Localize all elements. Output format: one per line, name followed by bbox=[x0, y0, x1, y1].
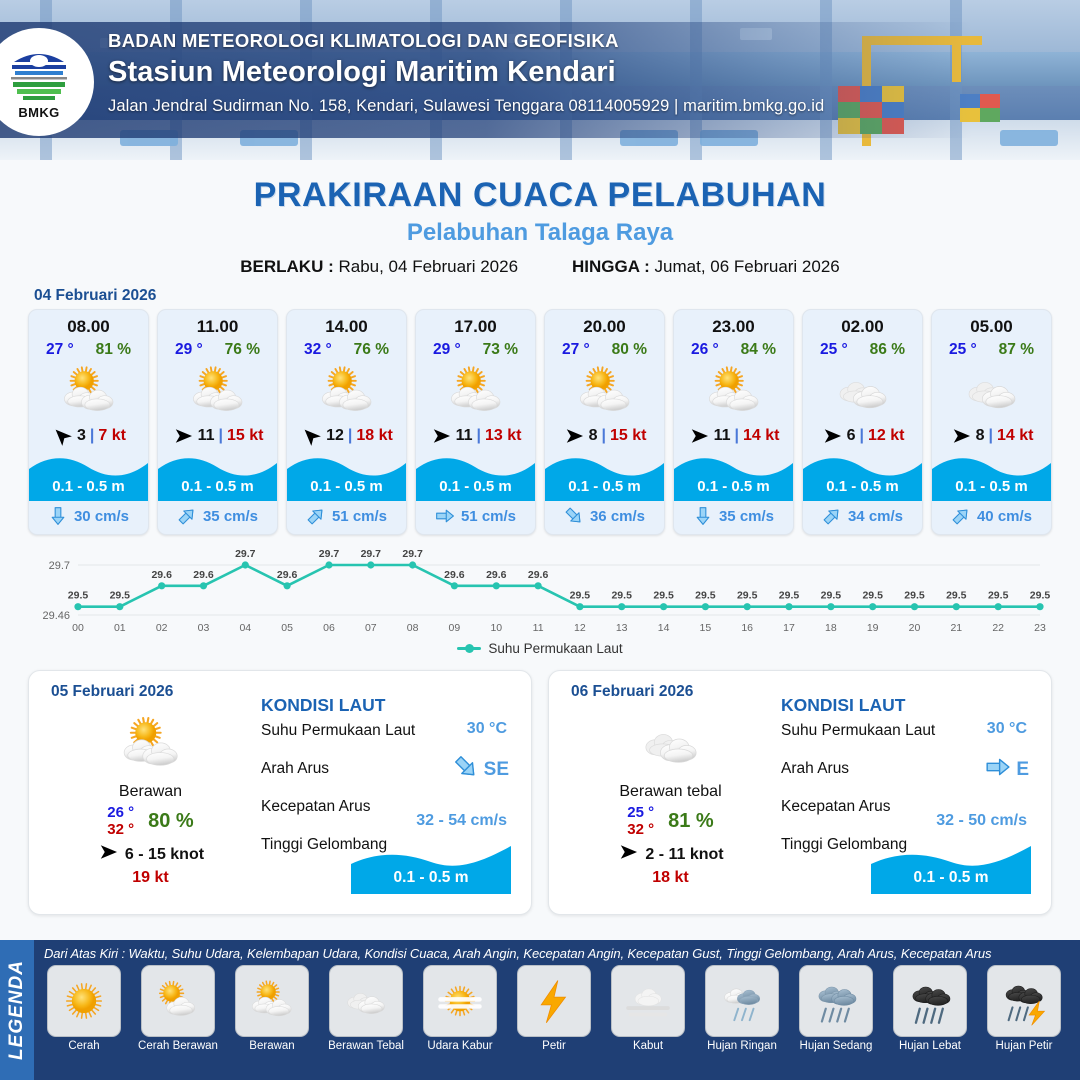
legend-item-label: Berawan bbox=[228, 1040, 316, 1052]
svg-text:00: 00 bbox=[72, 622, 84, 634]
legend-item: Kabut bbox=[604, 965, 692, 1052]
svg-text:29.6: 29.6 bbox=[193, 569, 214, 581]
wind-direction-arrow-icon bbox=[821, 427, 843, 445]
card-wind-speed: 11 bbox=[198, 427, 215, 445]
card-wave-area: 0.1 - 0.5 m bbox=[29, 449, 148, 501]
wind-direction-arrow-icon bbox=[430, 427, 452, 445]
legend-sun-cloud-icon bbox=[141, 965, 215, 1037]
daily-forecast-panel[interactable]: 05 Februari 2026 Berawan 26 ° 32 ° 80 % … bbox=[28, 670, 532, 915]
sea-current-speed-label: Kecepatan Arus bbox=[781, 798, 890, 815]
daily-weather-cloudy-icon bbox=[563, 709, 778, 781]
sea-current-direction-label: Arah Arus bbox=[781, 760, 849, 777]
daily-sea-conditions: KONDISI LAUT Suhu Permukaan Laut 30 °C A… bbox=[781, 695, 1037, 890]
card-wave-height: 0.1 - 0.5 m bbox=[287, 478, 406, 495]
daily-weather-partly-cloudy-icon bbox=[43, 709, 258, 781]
current-direction-arrow-icon bbox=[306, 506, 326, 526]
svg-text:29.7: 29.7 bbox=[49, 560, 70, 572]
legend-item-label: Cerah Berawan bbox=[134, 1040, 222, 1052]
svg-text:07: 07 bbox=[365, 622, 377, 634]
card-temp-humidity: 27 ° 81 % bbox=[29, 337, 148, 359]
legend-haze-icon bbox=[423, 965, 497, 1037]
card-time: 23.00 bbox=[674, 310, 793, 337]
card-time: 17.00 bbox=[416, 310, 535, 337]
legend-item: Hujan Sedang bbox=[792, 965, 880, 1052]
hingga-value: Jumat, 06 Februari 2026 bbox=[655, 257, 840, 276]
card-current-speed: 35 cm/s bbox=[719, 508, 774, 525]
svg-text:09: 09 bbox=[449, 622, 461, 634]
card-weather-partly-cloudy-icon bbox=[158, 359, 277, 425]
daily-temp-column: 26 ° 32 ° bbox=[107, 804, 134, 838]
sea-wave-height-value: 0.1 - 0.5 m bbox=[351, 869, 511, 887]
card-wind-speed: 8 bbox=[589, 427, 598, 445]
svg-text:12: 12 bbox=[574, 622, 586, 634]
card-humidity: 81 % bbox=[96, 341, 131, 359]
card-weather-partly-cloudy-icon bbox=[674, 359, 793, 425]
svg-text:29.5: 29.5 bbox=[821, 590, 842, 602]
svg-text:29.6: 29.6 bbox=[277, 569, 298, 581]
card-wind-speed: 11 bbox=[456, 427, 473, 445]
hourly-card[interactable]: 14.00 32 ° 76 % 12 | 18 kt 0.1 - 0.5 m bbox=[286, 309, 407, 535]
sea-condition-title: KONDISI LAUT bbox=[781, 695, 1037, 716]
svg-text:01: 01 bbox=[114, 622, 126, 634]
svg-text:29.7: 29.7 bbox=[361, 549, 382, 560]
sea-temperature-chart: 29.729.4629.50029.50129.60229.60329.7042… bbox=[26, 549, 1054, 664]
station-name: Stasiun Meteorologi Maritim Kendari bbox=[108, 56, 938, 89]
card-weather-partly-cloudy-icon bbox=[416, 359, 535, 425]
legend-partly-cloudy-icon bbox=[235, 965, 309, 1037]
sea-row-sst: Suhu Permukaan Laut 30 °C bbox=[781, 716, 1037, 754]
legend-item: Cerah bbox=[40, 965, 128, 1052]
hourly-card[interactable]: 05.00 25 ° 87 % 8 | 14 kt 0.1 - 0.5 m bbox=[931, 309, 1052, 535]
card-wave-area: 0.1 - 0.5 m bbox=[158, 449, 277, 501]
daily-sea-conditions: KONDISI LAUT Suhu Permukaan Laut 30 °C A… bbox=[261, 695, 517, 890]
legend-sunny-icon bbox=[47, 965, 121, 1037]
hourly-card[interactable]: 17.00 29 ° 73 % 11 | 13 kt 0.1 - 0.5 m bbox=[415, 309, 536, 535]
svg-text:19: 19 bbox=[867, 622, 879, 634]
card-humidity: 84 % bbox=[741, 341, 776, 359]
sea-row-sst: Suhu Permukaan Laut 30 °C bbox=[261, 716, 517, 754]
legend-item: Berawan Tebal bbox=[322, 965, 410, 1052]
current-direction-arrow-icon bbox=[435, 506, 455, 526]
daily-temp-max: 32 ° bbox=[627, 821, 654, 838]
card-wave-height: 0.1 - 0.5 m bbox=[674, 478, 793, 495]
current-direction-arrow-icon bbox=[951, 506, 971, 526]
hourly-card[interactable]: 11.00 29 ° 76 % 11 | 15 kt 0.1 - 0.5 m bbox=[157, 309, 278, 535]
card-humidity: 86 % bbox=[870, 341, 905, 359]
card-gust: 14 kt bbox=[743, 427, 779, 445]
card-current-speed: 40 cm/s bbox=[977, 508, 1032, 525]
daily-temp-min: 25 ° bbox=[627, 804, 654, 821]
bmkg-logo-text: BMKG bbox=[3, 105, 75, 120]
daily-date: 06 Februari 2026 bbox=[571, 683, 693, 701]
hourly-date-label: 04 Februari 2026 bbox=[34, 287, 1080, 305]
svg-text:21: 21 bbox=[950, 622, 962, 634]
card-temp-humidity: 32 ° 76 % bbox=[287, 337, 406, 359]
card-current-speed: 36 cm/s bbox=[590, 508, 645, 525]
card-wave-height: 0.1 - 0.5 m bbox=[932, 478, 1051, 495]
card-current-speed: 35 cm/s bbox=[203, 508, 258, 525]
hingga-group: HINGGA : Jumat, 06 Februari 2026 bbox=[572, 257, 840, 277]
card-humidity: 87 % bbox=[999, 341, 1034, 359]
daily-wind-range: 6 - 15 knot bbox=[125, 846, 204, 864]
card-temperature: 25 ° bbox=[820, 341, 848, 359]
card-current-speed: 34 cm/s bbox=[848, 508, 903, 525]
svg-text:08: 08 bbox=[407, 622, 419, 634]
card-time: 05.00 bbox=[932, 310, 1051, 337]
card-wave-area: 0.1 - 0.5 m bbox=[803, 449, 922, 501]
hourly-card[interactable]: 02.00 25 ° 86 % 6 | 12 kt 0.1 - 0.5 m bbox=[802, 309, 923, 535]
card-temp-humidity: 26 ° 84 % bbox=[674, 337, 793, 359]
svg-text:02: 02 bbox=[156, 622, 168, 634]
svg-text:15: 15 bbox=[700, 622, 712, 634]
card-wave-area: 0.1 - 0.5 m bbox=[932, 449, 1051, 501]
daily-wind-direction-arrow-icon bbox=[617, 843, 639, 866]
card-weather-partly-cloudy-icon bbox=[545, 359, 664, 425]
card-gust: 14 kt bbox=[997, 427, 1033, 445]
daily-gust: 18 kt bbox=[563, 869, 778, 887]
wind-direction-arrow-icon bbox=[51, 427, 73, 445]
legend-moderate-rain-icon bbox=[799, 965, 873, 1037]
agency-name: BADAN METEOROLOGI KLIMATOLOGI DAN GEOFIS… bbox=[108, 30, 938, 52]
legend-note: Dari Atas Kiri : Waktu, Suhu Udara, Kele… bbox=[34, 940, 1080, 965]
card-current-speed: 51 cm/s bbox=[332, 508, 387, 525]
card-weather-partly-cloudy-icon bbox=[29, 359, 148, 425]
card-gust: 7 kt bbox=[98, 427, 126, 445]
sea-condition-title: KONDISI LAUT bbox=[261, 695, 517, 716]
card-current-speed: 51 cm/s bbox=[461, 508, 516, 525]
berlaku-group: BERLAKU : Rabu, 04 Februari 2026 bbox=[240, 257, 518, 277]
card-gust: 18 kt bbox=[356, 427, 392, 445]
wind-direction-arrow-icon bbox=[172, 427, 194, 445]
legend-thunderstorm-icon bbox=[987, 965, 1061, 1037]
card-temp-humidity: 27 ° 80 % bbox=[545, 337, 664, 359]
legend-item-label: Petir bbox=[510, 1040, 598, 1052]
page-subtitle: Pelabuhan Talaga Raya bbox=[0, 219, 1080, 247]
wind-direction-arrow-icon bbox=[950, 427, 972, 445]
daily-condition: Berawan bbox=[43, 783, 258, 801]
svg-text:22: 22 bbox=[992, 622, 1004, 634]
sea-current-direction-arrow-icon bbox=[985, 754, 1011, 785]
svg-text:29.5: 29.5 bbox=[988, 590, 1009, 602]
legend-item-label: Hujan Lebat bbox=[886, 1040, 974, 1052]
legend-item-label: Hujan Petir bbox=[980, 1040, 1068, 1052]
sea-wave-box: 0.1 - 0.5 m bbox=[351, 838, 511, 894]
svg-text:29.7: 29.7 bbox=[235, 549, 256, 560]
card-current-row: 34 cm/s bbox=[803, 501, 922, 534]
svg-text:05: 05 bbox=[281, 622, 293, 634]
card-wind-speed: 6 bbox=[847, 427, 856, 445]
sea-row-current-direction: Arah Arus SE bbox=[261, 754, 517, 792]
card-wind-separator: | bbox=[859, 427, 863, 445]
card-time: 02.00 bbox=[803, 310, 922, 337]
svg-text:18: 18 bbox=[825, 622, 837, 634]
svg-text:04: 04 bbox=[239, 622, 251, 634]
svg-text:23: 23 bbox=[1034, 622, 1046, 634]
svg-text:06: 06 bbox=[323, 622, 335, 634]
card-temperature: 29 ° bbox=[175, 341, 203, 359]
svg-text:29.5: 29.5 bbox=[737, 590, 758, 602]
chart-legend-label: Suhu Permukaan Laut bbox=[488, 641, 622, 656]
sea-current-direction-group: E bbox=[985, 754, 1029, 785]
page-header: BMKG BADAN METEOROLOGI KLIMATOLOGI DAN G… bbox=[0, 0, 1080, 160]
card-wind-row: 8 | 15 kt bbox=[545, 425, 664, 449]
card-time: 20.00 bbox=[545, 310, 664, 337]
legend-item-label: Cerah bbox=[40, 1040, 128, 1052]
svg-text:29.6: 29.6 bbox=[444, 569, 465, 581]
daily-forecast-panels: 05 Februari 2026 Berawan 26 ° 32 ° 80 % … bbox=[0, 664, 1080, 915]
card-temp-humidity: 25 ° 87 % bbox=[932, 337, 1051, 359]
legend-body: Dari Atas Kiri : Waktu, Suhu Udara, Kele… bbox=[34, 940, 1080, 1080]
svg-text:11: 11 bbox=[533, 622, 544, 634]
card-gust: 13 kt bbox=[485, 427, 521, 445]
legend-item-label: Hujan Ringan bbox=[698, 1040, 786, 1052]
svg-text:20: 20 bbox=[909, 622, 921, 634]
svg-text:14: 14 bbox=[658, 622, 670, 634]
current-direction-arrow-icon bbox=[48, 506, 68, 526]
card-wave-height: 0.1 - 0.5 m bbox=[29, 478, 148, 495]
card-wind-row: 6 | 12 kt bbox=[803, 425, 922, 449]
current-direction-arrow-icon bbox=[564, 506, 584, 526]
daily-gust: 19 kt bbox=[43, 869, 258, 887]
sea-current-speed-label: Kecepatan Arus bbox=[261, 798, 370, 815]
sea-sst-label: Suhu Permukaan Laut bbox=[261, 722, 415, 739]
legend-heavy-rain-icon bbox=[893, 965, 967, 1037]
svg-text:29.5: 29.5 bbox=[695, 590, 716, 602]
card-temperature: 25 ° bbox=[949, 341, 977, 359]
card-current-row: 40 cm/s bbox=[932, 501, 1051, 534]
card-current-speed: 30 cm/s bbox=[74, 508, 129, 525]
card-current-row: 51 cm/s bbox=[287, 501, 406, 534]
daily-wind-row: 6 - 15 knot bbox=[43, 843, 258, 866]
svg-text:29.5: 29.5 bbox=[1030, 590, 1051, 602]
chart-legend: Suhu Permukaan Laut bbox=[26, 641, 1054, 656]
hingga-label: HINGGA : bbox=[572, 257, 650, 276]
svg-text:29.5: 29.5 bbox=[779, 590, 800, 602]
card-weather-cloudy-icon bbox=[932, 359, 1051, 425]
chart-plot: 29.729.4629.50029.50129.60229.60329.7042… bbox=[26, 549, 1054, 639]
daily-wind-range: 2 - 11 knot bbox=[645, 846, 723, 864]
legend-icon-list: Cerah Cerah Berawan Berawan Berawan Teba… bbox=[34, 965, 1080, 1052]
current-direction-arrow-icon bbox=[177, 506, 197, 526]
daily-temp-min: 26 ° bbox=[107, 804, 134, 821]
card-wind-separator: | bbox=[988, 427, 992, 445]
svg-text:29.5: 29.5 bbox=[946, 590, 967, 602]
card-time: 14.00 bbox=[287, 310, 406, 337]
sea-current-direction-value: SE bbox=[484, 759, 509, 781]
card-wave-height: 0.1 - 0.5 m bbox=[545, 478, 664, 495]
card-current-row: 30 cm/s bbox=[29, 501, 148, 534]
daily-condition: Berawan tebal bbox=[563, 783, 778, 801]
card-current-row: 35 cm/s bbox=[674, 501, 793, 534]
daily-temp-column: 25 ° 32 ° bbox=[627, 804, 654, 838]
svg-text:29.5: 29.5 bbox=[653, 590, 674, 602]
legend-lightning-icon bbox=[517, 965, 591, 1037]
legend-item: Hujan Petir bbox=[980, 965, 1068, 1052]
berlaku-value: Rabu, 04 Februari 2026 bbox=[338, 257, 518, 276]
sea-current-speed-value: 32 - 54 cm/s bbox=[416, 812, 507, 830]
sea-current-direction-arrow-icon bbox=[453, 754, 479, 785]
card-wave-area: 0.1 - 0.5 m bbox=[287, 449, 406, 501]
svg-text:29.5: 29.5 bbox=[110, 590, 131, 602]
svg-text:29.6: 29.6 bbox=[151, 569, 172, 581]
card-wind-separator: | bbox=[90, 427, 94, 445]
svg-text:17: 17 bbox=[783, 622, 795, 634]
card-wind-speed: 3 bbox=[77, 427, 86, 445]
card-wind-speed: 12 bbox=[326, 427, 344, 445]
wind-direction-arrow-icon bbox=[688, 427, 710, 445]
legend-item: Udara Kabur bbox=[416, 965, 504, 1052]
hourly-card[interactable]: 08.00 27 ° 81 % 3 | 7 kt 0.1 - 0.5 m bbox=[28, 309, 149, 535]
berlaku-label: BERLAKU : bbox=[240, 257, 334, 276]
wind-direction-arrow-icon bbox=[300, 427, 322, 445]
card-wind-separator: | bbox=[734, 427, 738, 445]
hourly-forecast-cards: 08.00 27 ° 81 % 3 | 7 kt 0.1 - 0.5 m bbox=[0, 309, 1080, 535]
card-gust: 12 kt bbox=[868, 427, 904, 445]
legend-item-label: Berawan Tebal bbox=[322, 1040, 410, 1052]
svg-text:29.6: 29.6 bbox=[486, 569, 507, 581]
sea-sst-value: 30 °C bbox=[467, 720, 507, 738]
card-humidity: 80 % bbox=[612, 341, 647, 359]
daily-humidity: 81 % bbox=[668, 810, 714, 833]
station-address: Jalan Jendral Sudirman No. 158, Kendari,… bbox=[108, 97, 938, 116]
daily-temp-humidity: 25 ° 32 ° 81 % bbox=[563, 804, 778, 838]
card-wave-area: 0.1 - 0.5 m bbox=[416, 449, 535, 501]
card-humidity: 76 % bbox=[225, 341, 260, 359]
card-wind-row: 11 | 13 kt bbox=[416, 425, 535, 449]
card-wave-height: 0.1 - 0.5 m bbox=[158, 478, 277, 495]
card-wind-row: 12 | 18 kt bbox=[287, 425, 406, 449]
svg-text:29.5: 29.5 bbox=[862, 590, 883, 602]
svg-text:16: 16 bbox=[741, 622, 753, 634]
card-weather-partly-cloudy-icon bbox=[287, 359, 406, 425]
card-temperature: 32 ° bbox=[304, 341, 332, 359]
svg-text:13: 13 bbox=[616, 622, 628, 634]
daily-wind-row: 2 - 11 knot bbox=[563, 843, 778, 866]
legend-sidebar: LEGENDA bbox=[0, 940, 34, 1080]
chart-legend-marker-icon bbox=[457, 647, 481, 650]
svg-text:29.5: 29.5 bbox=[611, 590, 632, 602]
sea-sst-label: Suhu Permukaan Laut bbox=[781, 722, 935, 739]
legend-cloudy-icon bbox=[329, 965, 403, 1037]
daily-temp-humidity: 26 ° 32 ° 80 % bbox=[43, 804, 258, 838]
svg-text:29.5: 29.5 bbox=[570, 590, 591, 602]
sea-row-current-speed: Kecepatan Arus 32 - 54 cm/s bbox=[261, 792, 517, 830]
legend-item: Hujan Lebat bbox=[886, 965, 974, 1052]
sea-wave-height-value: 0.1 - 0.5 m bbox=[871, 869, 1031, 887]
card-temp-humidity: 29 ° 73 % bbox=[416, 337, 535, 359]
legend-item-label: Hujan Sedang bbox=[792, 1040, 880, 1052]
current-direction-arrow-icon bbox=[693, 506, 713, 526]
header-text-block: BADAN METEOROLOGI KLIMATOLOGI DAN GEOFIS… bbox=[108, 30, 938, 116]
current-direction-arrow-icon bbox=[822, 506, 842, 526]
card-wind-row: 8 | 14 kt bbox=[932, 425, 1051, 449]
card-current-row: 35 cm/s bbox=[158, 501, 277, 534]
svg-text:29.7: 29.7 bbox=[402, 549, 423, 560]
bmkg-logo-icon bbox=[3, 42, 75, 108]
card-gust: 15 kt bbox=[227, 427, 263, 445]
daily-humidity: 80 % bbox=[148, 810, 194, 833]
card-humidity: 76 % bbox=[354, 341, 389, 359]
card-wave-area: 0.1 - 0.5 m bbox=[545, 449, 664, 501]
legend-sidebar-title: LEGENDA bbox=[6, 960, 28, 1060]
card-wind-separator: | bbox=[601, 427, 605, 445]
sea-row-current-direction: Arah Arus E bbox=[781, 754, 1037, 792]
validity-row: BERLAKU : Rabu, 04 Februari 2026 HINGGA … bbox=[0, 257, 1080, 277]
card-time: 11.00 bbox=[158, 310, 277, 337]
daily-left-summary: Berawan tebal 25 ° 32 ° 81 % 2 - 11 knot… bbox=[563, 709, 778, 887]
legend-light-rain-icon bbox=[705, 965, 779, 1037]
daily-left-summary: Berawan 26 ° 32 ° 80 % 6 - 15 knot 19 kt bbox=[43, 709, 258, 887]
card-temp-humidity: 25 ° 86 % bbox=[803, 337, 922, 359]
card-wave-height: 0.1 - 0.5 m bbox=[416, 478, 535, 495]
card-current-row: 36 cm/s bbox=[545, 501, 664, 534]
sea-current-direction-label: Arah Arus bbox=[261, 760, 329, 777]
card-temp-humidity: 29 ° 76 % bbox=[158, 337, 277, 359]
svg-text:29.46: 29.46 bbox=[42, 610, 70, 622]
svg-text:29.5: 29.5 bbox=[904, 590, 925, 602]
daily-forecast-panel[interactable]: 06 Februari 2026 Berawan tebal 25 ° 32 °… bbox=[548, 670, 1052, 915]
legend-item: Hujan Ringan bbox=[698, 965, 786, 1052]
sea-row-wave-height: Tinggi Gelombang 0.1 - 0.5 m bbox=[261, 830, 517, 890]
sea-row-current-speed: Kecepatan Arus 32 - 50 cm/s bbox=[781, 792, 1037, 830]
card-weather-cloudy-icon bbox=[803, 359, 922, 425]
card-current-row: 51 cm/s bbox=[416, 501, 535, 534]
legend-item: Petir bbox=[510, 965, 598, 1052]
card-wind-separator: | bbox=[218, 427, 222, 445]
legend-item-label: Udara Kabur bbox=[416, 1040, 504, 1052]
card-temperature: 29 ° bbox=[433, 341, 461, 359]
daily-date: 05 Februari 2026 bbox=[51, 683, 173, 701]
page-title: PRAKIRAAN CUACA PELABUHAN bbox=[0, 176, 1080, 215]
legend-item: Cerah Berawan bbox=[134, 965, 222, 1052]
card-wind-row: 11 | 14 kt bbox=[674, 425, 793, 449]
daily-wind-direction-arrow-icon bbox=[97, 843, 119, 866]
card-wave-area: 0.1 - 0.5 m bbox=[674, 449, 793, 501]
sea-current-speed-value: 32 - 50 cm/s bbox=[936, 812, 1027, 830]
card-humidity: 73 % bbox=[483, 341, 518, 359]
wind-direction-arrow-icon bbox=[563, 427, 585, 445]
legend-section: LEGENDA Dari Atas Kiri : Waktu, Suhu Uda… bbox=[0, 940, 1080, 1080]
card-temperature: 27 ° bbox=[562, 341, 590, 359]
hourly-card[interactable]: 23.00 26 ° 84 % 11 | 14 kt 0.1 - 0.5 m bbox=[673, 309, 794, 535]
sea-current-direction-group: SE bbox=[453, 754, 509, 785]
legend-item-label: Kabut bbox=[604, 1040, 692, 1052]
svg-text:29.5: 29.5 bbox=[68, 590, 89, 602]
legend-fog-icon bbox=[611, 965, 685, 1037]
daily-temp-max: 32 ° bbox=[107, 821, 134, 838]
hourly-card[interactable]: 20.00 27 ° 80 % 8 | 15 kt 0.1 - 0.5 m bbox=[544, 309, 665, 535]
sea-sst-value: 30 °C bbox=[987, 720, 1027, 738]
sea-current-direction-value: E bbox=[1016, 759, 1029, 781]
card-wind-row: 3 | 7 kt bbox=[29, 425, 148, 449]
card-time: 08.00 bbox=[29, 310, 148, 337]
card-wind-row: 11 | 15 kt bbox=[158, 425, 277, 449]
card-wind-speed: 8 bbox=[976, 427, 985, 445]
legend-item: Berawan bbox=[228, 965, 316, 1052]
sea-wave-box: 0.1 - 0.5 m bbox=[871, 838, 1031, 894]
sea-row-wave-height: Tinggi Gelombang 0.1 - 0.5 m bbox=[781, 830, 1037, 890]
svg-text:03: 03 bbox=[198, 622, 210, 634]
svg-text:29.6: 29.6 bbox=[528, 569, 549, 581]
card-temperature: 27 ° bbox=[46, 341, 74, 359]
card-wind-separator: | bbox=[476, 427, 480, 445]
card-temperature: 26 ° bbox=[691, 341, 719, 359]
svg-text:29.7: 29.7 bbox=[319, 549, 340, 560]
card-wind-speed: 11 bbox=[714, 427, 731, 445]
card-gust: 15 kt bbox=[610, 427, 646, 445]
card-wave-height: 0.1 - 0.5 m bbox=[803, 478, 922, 495]
svg-text:10: 10 bbox=[490, 622, 502, 634]
